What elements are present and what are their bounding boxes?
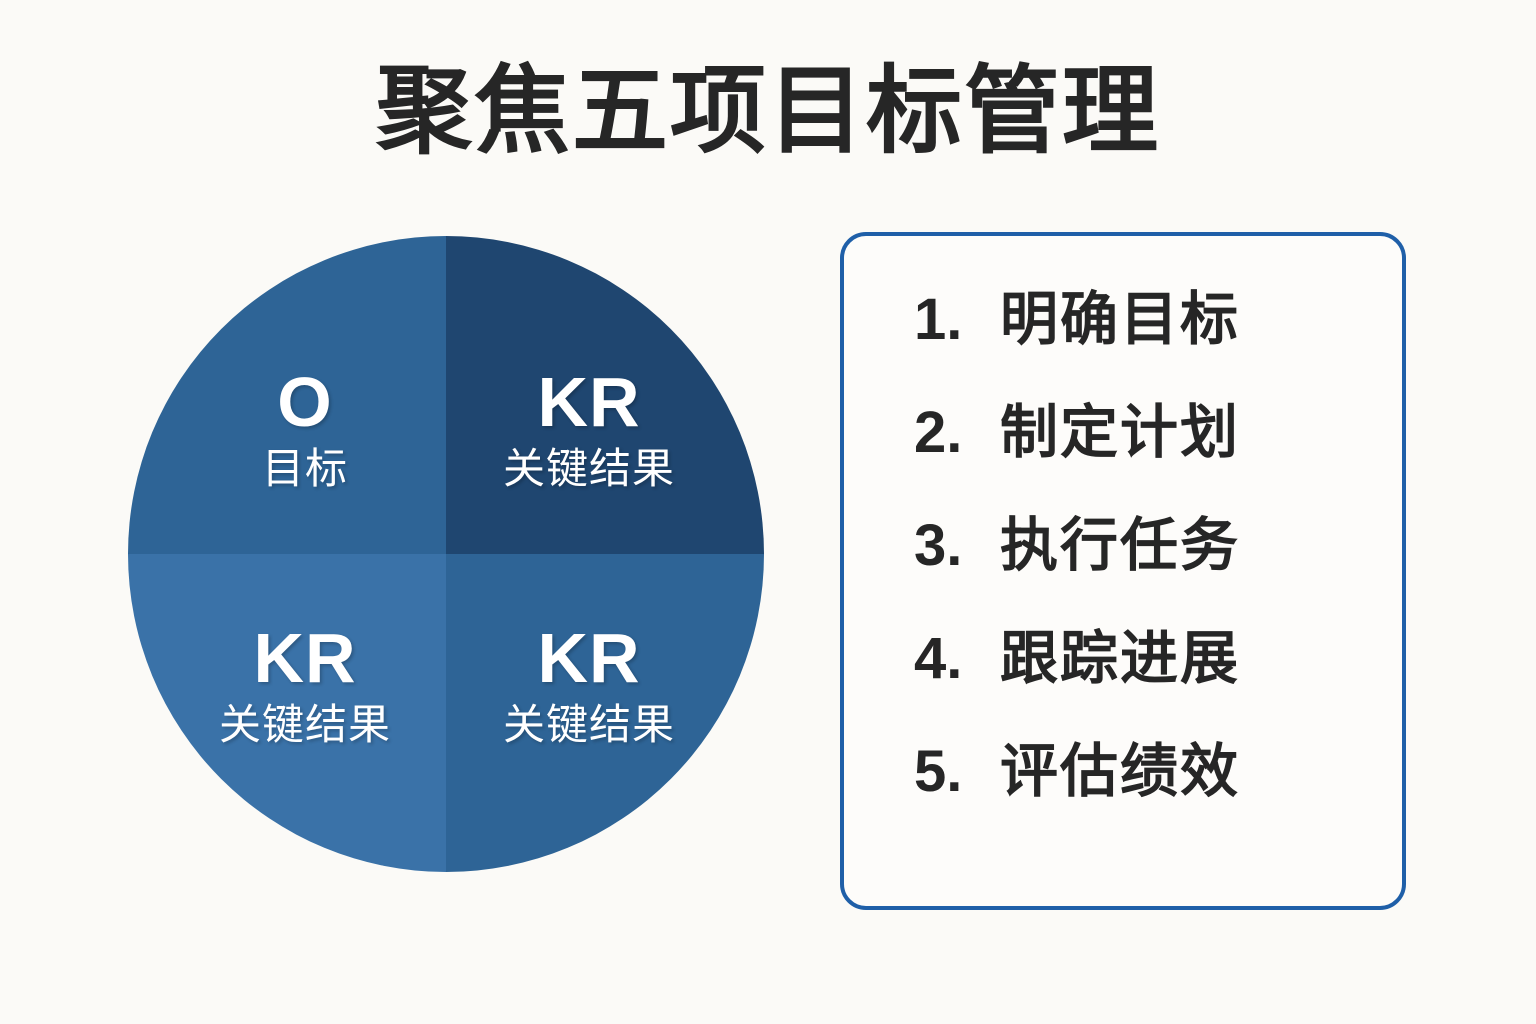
- step-item-3-label: 执行任务: [1000, 515, 1240, 577]
- page-title: 聚焦五项目标管理: [0, 58, 1536, 166]
- okr-quadrant-top-right: KR 关键结果: [446, 236, 764, 554]
- step-item-2-number: 2.: [914, 402, 1000, 464]
- okr-quadrant-bottom-left-label: 关键结果: [219, 701, 391, 749]
- step-item-5-number: 5.: [914, 741, 1000, 803]
- steps-panel: 1. 明确目标 2. 制定计划 3. 执行任务 4. 跟踪进展 5. 评估绩效: [840, 232, 1406, 910]
- okr-wheel-diagram: O 目标 KR 关键结果 KR 关键结果 KR 关键结果: [128, 236, 764, 872]
- step-item-4: 4. 跟踪进展: [914, 628, 1402, 741]
- okr-quadrant-top-right-code: KR: [537, 365, 640, 439]
- okr-quadrant-top-left-label: 目标: [262, 445, 348, 493]
- step-item-2: 2. 制定计划: [914, 402, 1402, 515]
- step-item-3: 3. 执行任务: [914, 515, 1402, 628]
- okr-quadrant-top-right-label: 关键结果: [503, 445, 675, 493]
- okr-quadrant-bottom-right-content: KR 关键结果: [503, 621, 675, 749]
- step-item-2-label: 制定计划: [1000, 402, 1240, 464]
- okr-quadrant-bottom-left-content: KR 关键结果: [219, 621, 391, 749]
- step-item-1: 1. 明确目标: [914, 289, 1402, 402]
- okr-quadrant-top-left-content: O 目标: [262, 365, 348, 493]
- step-item-1-number: 1.: [914, 289, 1000, 351]
- okr-quadrant-bottom-right: KR 关键结果: [446, 554, 764, 872]
- okr-quadrant-top-left-code: O: [277, 365, 332, 439]
- okr-quadrant-bottom-right-code: KR: [537, 621, 640, 695]
- okr-quadrant-bottom-left: KR 关键结果: [128, 554, 446, 872]
- step-item-5: 5. 评估绩效: [914, 741, 1402, 854]
- okr-quadrant-bottom-right-label: 关键结果: [503, 701, 675, 749]
- step-item-1-label: 明确目标: [1000, 289, 1240, 351]
- okr-quadrant-bottom-left-code: KR: [253, 621, 356, 695]
- step-item-5-label: 评估绩效: [1000, 741, 1240, 803]
- step-item-3-number: 3.: [914, 515, 1000, 577]
- step-item-4-label: 跟踪进展: [1000, 628, 1240, 690]
- okr-quadrant-top-left: O 目标: [128, 236, 446, 554]
- okr-quadrant-top-right-content: KR 关键结果: [503, 365, 675, 493]
- step-item-4-number: 4.: [914, 628, 1000, 690]
